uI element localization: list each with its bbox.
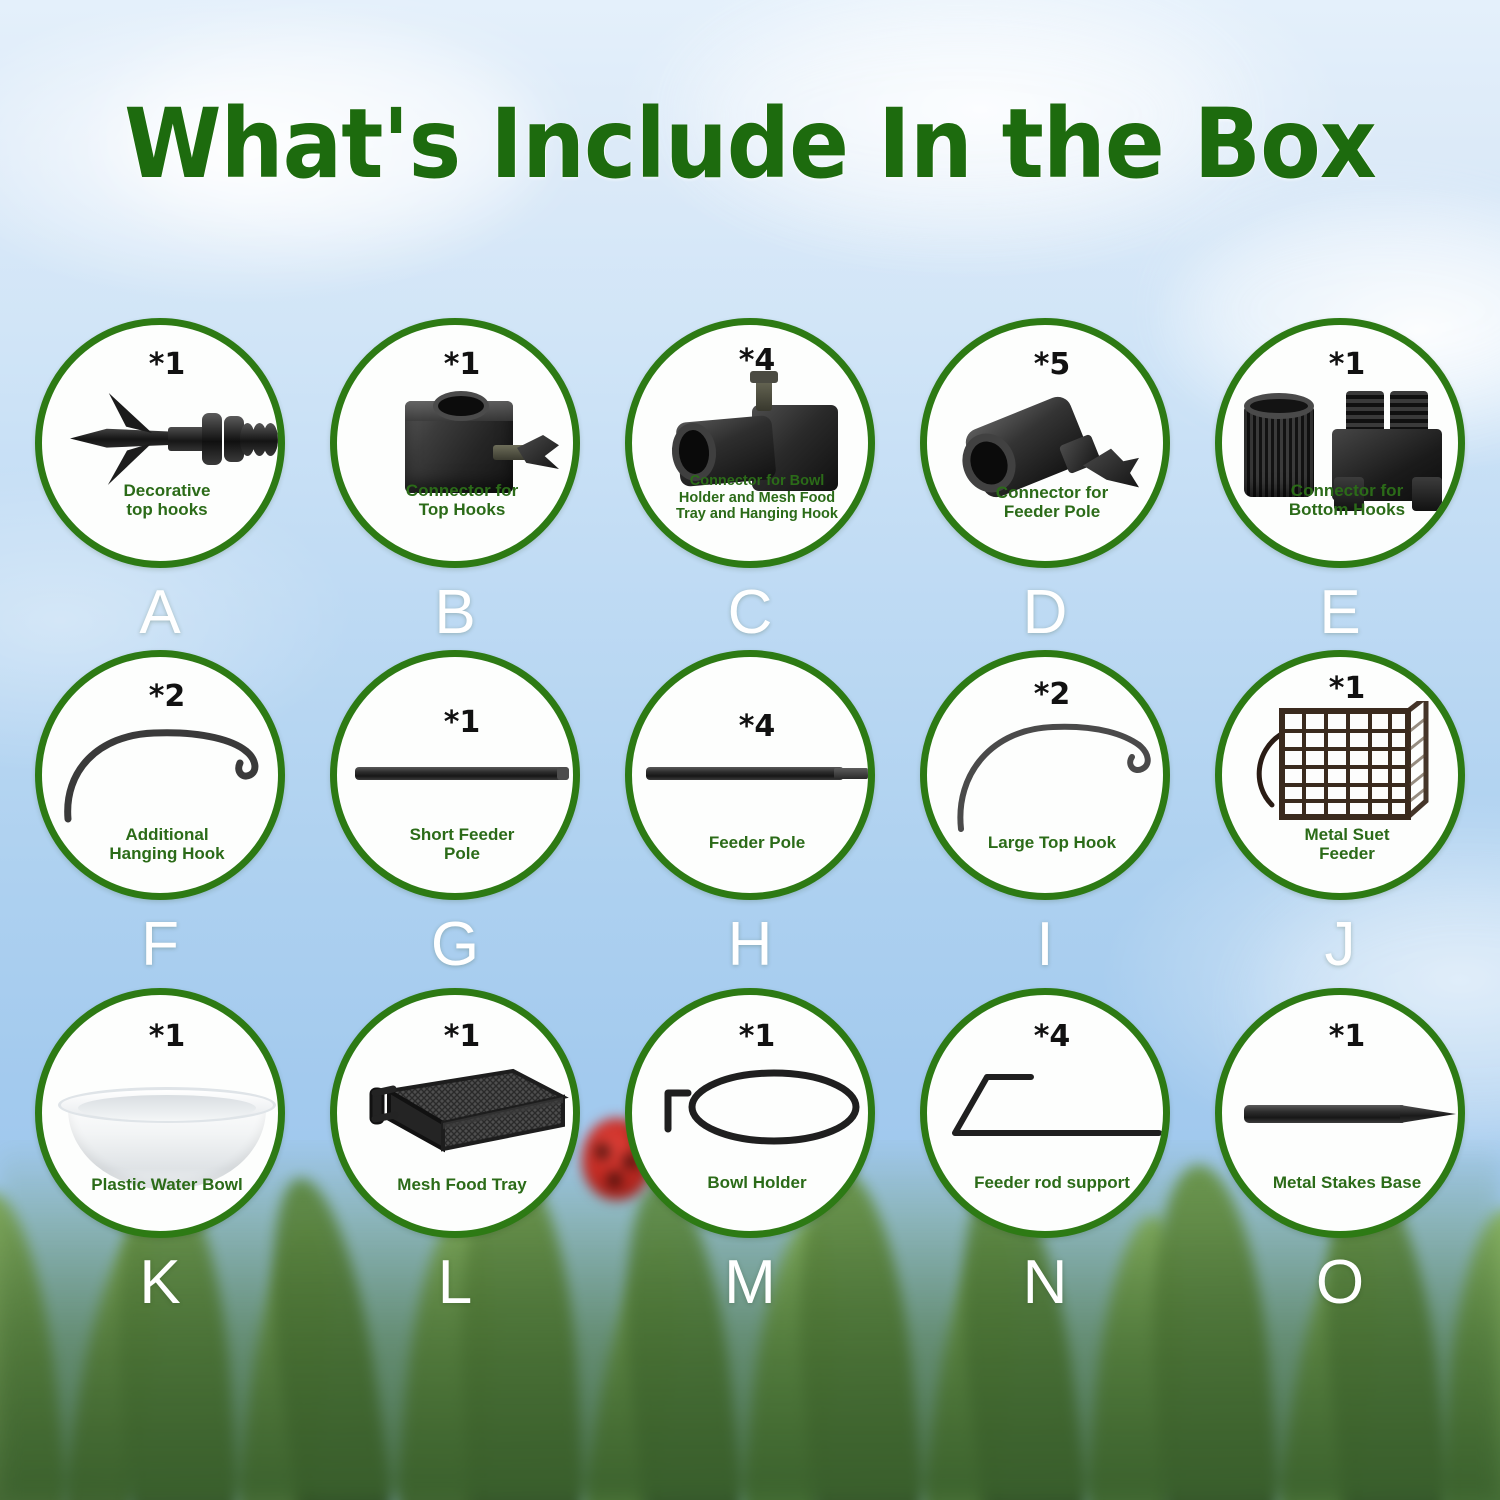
part-caption: Short Feeder Pole bbox=[345, 825, 579, 863]
quantity-label: *1 bbox=[42, 347, 285, 382]
parts-grid: *1 Decorative top hooks A *1 bbox=[0, 0, 1500, 1500]
part-cell-I[interactable]: *2 Large Top Hook I bbox=[920, 650, 1170, 900]
part-caption: Decorative top hooks bbox=[50, 481, 284, 519]
caption-line: Feeder rod support bbox=[935, 1173, 1169, 1192]
part-letter: B bbox=[330, 582, 580, 644]
quantity-label: *1 bbox=[42, 1019, 285, 1054]
caption-line: Additional bbox=[50, 825, 284, 844]
caption-line: Connector for bbox=[1230, 481, 1464, 500]
quantity-label: *1 bbox=[337, 1019, 580, 1054]
quantity-label: *1 bbox=[337, 705, 580, 740]
part-caption: Mesh Food Tray bbox=[345, 1175, 579, 1194]
part-circle: *1 bbox=[1215, 650, 1465, 900]
caption-line: Pole bbox=[345, 844, 579, 863]
part-letter: O bbox=[1215, 1252, 1465, 1314]
part-cell-A[interactable]: *1 Decorative top hooks A bbox=[35, 318, 285, 568]
part-cell-N[interactable]: *4 Feeder rod support N bbox=[920, 988, 1170, 1238]
part-cell-E[interactable]: *1 Connector for Bottom Hooks E bbox=[1215, 318, 1465, 568]
part-circle: *2 Large Top Hook bbox=[920, 650, 1170, 900]
caption-line: Hanging Hook bbox=[50, 844, 284, 863]
part-caption: Connector for Bottom Hooks bbox=[1230, 481, 1464, 519]
part-caption: Plastic Water Bowl bbox=[50, 1175, 284, 1194]
quantity-label: *2 bbox=[42, 679, 285, 714]
metal-suet-feeder-icon bbox=[1222, 701, 1465, 827]
quantity-label: *1 bbox=[632, 1019, 875, 1054]
part-cell-K[interactable]: *1 Plastic Water Bowl K bbox=[35, 988, 285, 1238]
part-letter: H bbox=[625, 914, 875, 976]
caption-line: Mesh Food Tray bbox=[345, 1175, 579, 1194]
part-letter: K bbox=[35, 1252, 285, 1314]
part-circle: *1 Metal Stakes Base bbox=[1215, 988, 1465, 1238]
part-letter: M bbox=[625, 1252, 875, 1314]
caption-line: top hooks bbox=[50, 500, 284, 519]
part-circle: *1 Connector for Bottom Hooks bbox=[1215, 318, 1465, 568]
part-circle: *5 Connector for Feeder Pole bbox=[920, 318, 1170, 568]
feeder-pole-icon bbox=[632, 767, 875, 787]
quantity-label: *4 bbox=[927, 1019, 1170, 1054]
hanging-hook-icon bbox=[42, 715, 285, 825]
caption-line: Connector for Bowl bbox=[640, 473, 874, 490]
caption-line: Decorative bbox=[50, 481, 284, 500]
quantity-label: *1 bbox=[1222, 1019, 1465, 1054]
part-circle: *4 Feeder rod support bbox=[920, 988, 1170, 1238]
caption-line: Connector for bbox=[345, 481, 579, 500]
part-letter: C bbox=[625, 582, 875, 644]
part-cell-G[interactable]: *1 Short Feeder Pole G bbox=[330, 650, 580, 900]
caption-line: Plastic Water Bowl bbox=[50, 1175, 284, 1194]
feeder-rod-support-icon bbox=[927, 1055, 1170, 1165]
caption-line: Large Top Hook bbox=[935, 833, 1169, 852]
part-cell-H[interactable]: *4 Feeder Pole H bbox=[625, 650, 875, 900]
caption-line: Feeder Pole bbox=[935, 502, 1169, 521]
part-circle: *4 Connector for Bowl Holder and Mesh Fo… bbox=[625, 318, 875, 568]
part-circle: *1 Plastic Water Bowl bbox=[35, 988, 285, 1238]
quantity-label: *4 bbox=[632, 709, 875, 744]
part-letter: G bbox=[330, 914, 580, 976]
part-circle: *4 Feeder Pole bbox=[625, 650, 875, 900]
part-circle: *1 Connector for Top Hooks bbox=[330, 318, 580, 568]
caption-line: Short Feeder bbox=[345, 825, 579, 844]
caption-line: Bowl Holder bbox=[640, 1173, 874, 1192]
caption-line: Top Hooks bbox=[345, 500, 579, 519]
part-cell-B[interactable]: *1 Connector for Top Hooks B bbox=[330, 318, 580, 568]
part-caption: Feeder rod support bbox=[935, 1173, 1169, 1192]
part-caption: Connector for Bowl Holder and Mesh Food … bbox=[640, 473, 874, 523]
part-cell-L[interactable]: *1 bbox=[330, 988, 580, 1238]
caption-line: Tray and Hanging Hook bbox=[640, 506, 874, 523]
mesh-food-tray-icon bbox=[337, 1053, 580, 1173]
part-caption: Bowl Holder bbox=[640, 1173, 874, 1192]
caption-line: Metal Stakes Base bbox=[1230, 1173, 1464, 1192]
caption-line: Feeder bbox=[1230, 844, 1464, 863]
part-caption: Metal Stakes Base bbox=[1230, 1173, 1464, 1192]
part-letter: J bbox=[1215, 914, 1465, 976]
part-caption: Large Top Hook bbox=[935, 833, 1169, 852]
metal-stakes-base-icon bbox=[1222, 1055, 1465, 1165]
part-letter: I bbox=[920, 914, 1170, 976]
part-letter: A bbox=[35, 582, 285, 644]
caption-line: Holder and Mesh Food bbox=[640, 490, 874, 507]
part-cell-J[interactable]: *1 bbox=[1215, 650, 1465, 900]
part-circle: *1 Bowl Holder bbox=[625, 988, 875, 1238]
part-circle: *1 Decorative top hooks bbox=[35, 318, 285, 568]
feeder-pole-connector-icon bbox=[927, 373, 1170, 498]
part-caption: Additional Hanging Hook bbox=[50, 825, 284, 863]
part-circle: *1 Short Feeder Pole bbox=[330, 650, 580, 900]
plastic-water-bowl-icon bbox=[42, 1053, 285, 1173]
large-top-hook-icon bbox=[927, 707, 1170, 837]
part-caption: Connector for Top Hooks bbox=[345, 481, 579, 519]
short-feeder-pole-icon bbox=[337, 767, 580, 787]
bowl-holder-icon bbox=[632, 1055, 875, 1165]
part-cell-O[interactable]: *1 Metal Stakes Base O bbox=[1215, 988, 1465, 1238]
top-hook-connector-icon bbox=[337, 377, 580, 497]
part-cell-C[interactable]: *4 Connector for Bowl Holder and Mesh Fo… bbox=[625, 318, 875, 568]
caption-line: Bottom Hooks bbox=[1230, 500, 1464, 519]
part-cell-D[interactable]: *5 Connector for Feeder Pole D bbox=[920, 318, 1170, 568]
caption-line: Metal Suet bbox=[1230, 825, 1464, 844]
part-caption: Feeder Pole bbox=[640, 833, 874, 852]
part-letter: F bbox=[35, 914, 285, 976]
caption-line: Connector for bbox=[935, 483, 1169, 502]
part-caption: Connector for Feeder Pole bbox=[935, 483, 1169, 521]
part-circle: *2 Additional Hanging Hook bbox=[35, 650, 285, 900]
part-letter: L bbox=[330, 1252, 580, 1314]
part-cell-M[interactable]: *1 Bowl Holder M bbox=[625, 988, 875, 1238]
part-caption: Metal Suet Feeder bbox=[1230, 825, 1464, 863]
part-letter: D bbox=[920, 582, 1170, 644]
part-letter: N bbox=[920, 1252, 1170, 1314]
bottom-hook-connector-icon bbox=[1222, 367, 1465, 497]
caption-line: Feeder Pole bbox=[640, 833, 874, 852]
part-letter: E bbox=[1215, 582, 1465, 644]
part-circle: *1 bbox=[330, 988, 580, 1238]
part-cell-F[interactable]: *2 Additional Hanging Hook F bbox=[35, 650, 285, 900]
